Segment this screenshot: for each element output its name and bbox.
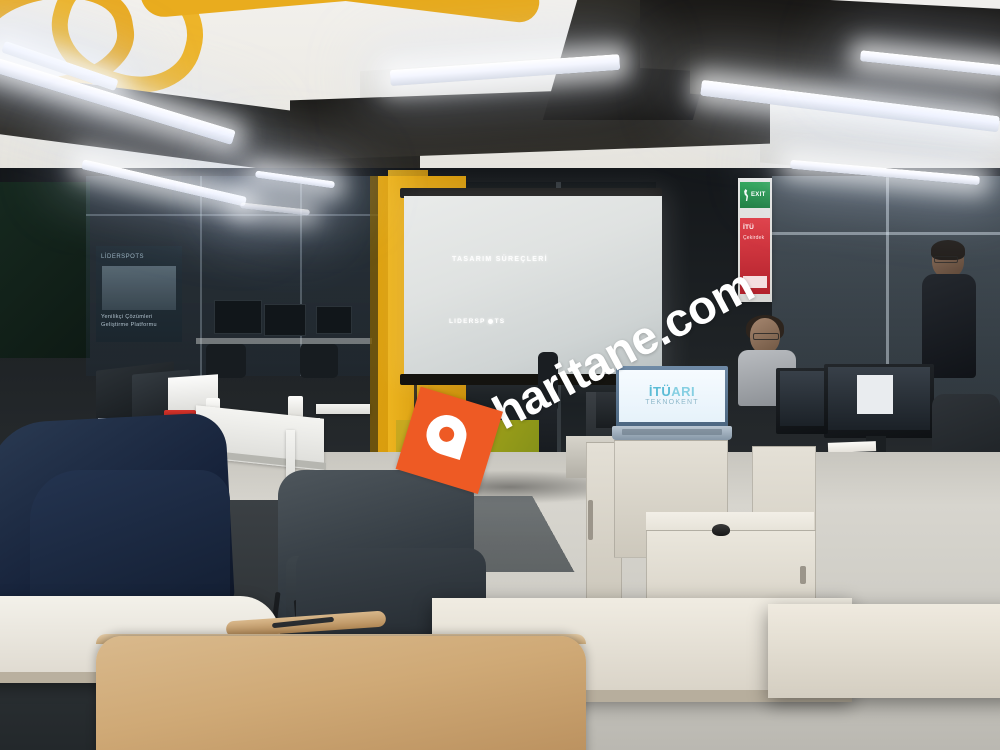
laptop: İTÜARI TEKNOKENT <box>612 366 732 444</box>
walker-torso <box>538 352 558 410</box>
cabinet-handle-2 <box>588 500 593 540</box>
slide-logo: LIDERSP TS <box>449 318 505 325</box>
laptop-screen: İTÜARI TEKNOKENT <box>619 370 725 422</box>
red-banner-white-bar <box>743 276 767 288</box>
window-mullion-3 <box>86 214 386 216</box>
projection-screen: TASARIM SÜREÇLERİ LIDERSP TS <box>404 196 662 376</box>
laptop-brand-itu: İTÜ <box>649 384 671 399</box>
background-monitor-3 <box>316 306 352 334</box>
laptop-brand-line-2: TEKNOKENT <box>645 399 699 407</box>
poster-line-1: Yenilikçi Çözümleri <box>101 314 177 321</box>
foreground-table-right <box>768 604 1000 698</box>
standing-person-body <box>922 274 976 378</box>
green-wall-panel <box>0 182 90 358</box>
monitor-right-2 <box>776 368 828 434</box>
red-banner-sign: İTÜ Çekirdek <box>740 218 770 294</box>
background-chair-2 <box>300 344 338 378</box>
slide-logo-dot-icon <box>488 319 493 324</box>
slide-logo-right: TS <box>495 318 506 325</box>
running-man-exit-icon <box>743 189 749 201</box>
poster-title: LİDERSPOTS <box>101 254 144 260</box>
laptop-brand-ari: ARI <box>671 384 695 399</box>
wall-poster: LİDERSPOTS Yenilikçi Çözümleri Geliştirm… <box>96 246 182 342</box>
exit-sign: EXIT <box>740 182 770 208</box>
office-photograph: LİDERSPOTS Yenilikçi Çözümleri Geliştirm… <box>0 0 1000 750</box>
window-mullion-right-2 <box>772 232 1000 235</box>
laptop-brand-line-1: İTÜARI <box>649 385 695 398</box>
cabinet-handle <box>800 566 806 584</box>
monitor-screen-2 <box>780 371 824 426</box>
desk-left-back-shelf <box>316 404 370 414</box>
red-banner-line-2: Çekirdek <box>743 235 767 241</box>
foreground-chair-back <box>96 636 586 750</box>
monitor-document <box>857 375 894 414</box>
background-monitor-1 <box>214 300 262 334</box>
standing-person-glasses <box>934 256 958 263</box>
slide-logo-left: LIDERSP <box>449 318 486 325</box>
seated-person-glasses <box>753 333 779 340</box>
poster-image <box>102 266 176 310</box>
slide-title: TASARIM SÜREÇLERİ <box>452 256 548 263</box>
background-monitor-2 <box>264 304 306 336</box>
laptop-keyboard <box>622 429 722 435</box>
computer-mouse <box>712 524 730 536</box>
monitor-right-1 <box>824 364 934 438</box>
red-banner-line-1: İTÜ <box>743 224 767 232</box>
window-mullion-1 <box>200 176 202 376</box>
exit-sign-label: EXIT <box>751 192 766 198</box>
background-chair-1 <box>206 344 246 378</box>
poster-line-2: Geliştirme Platformu <box>101 322 177 329</box>
monitor-screen <box>828 367 930 430</box>
